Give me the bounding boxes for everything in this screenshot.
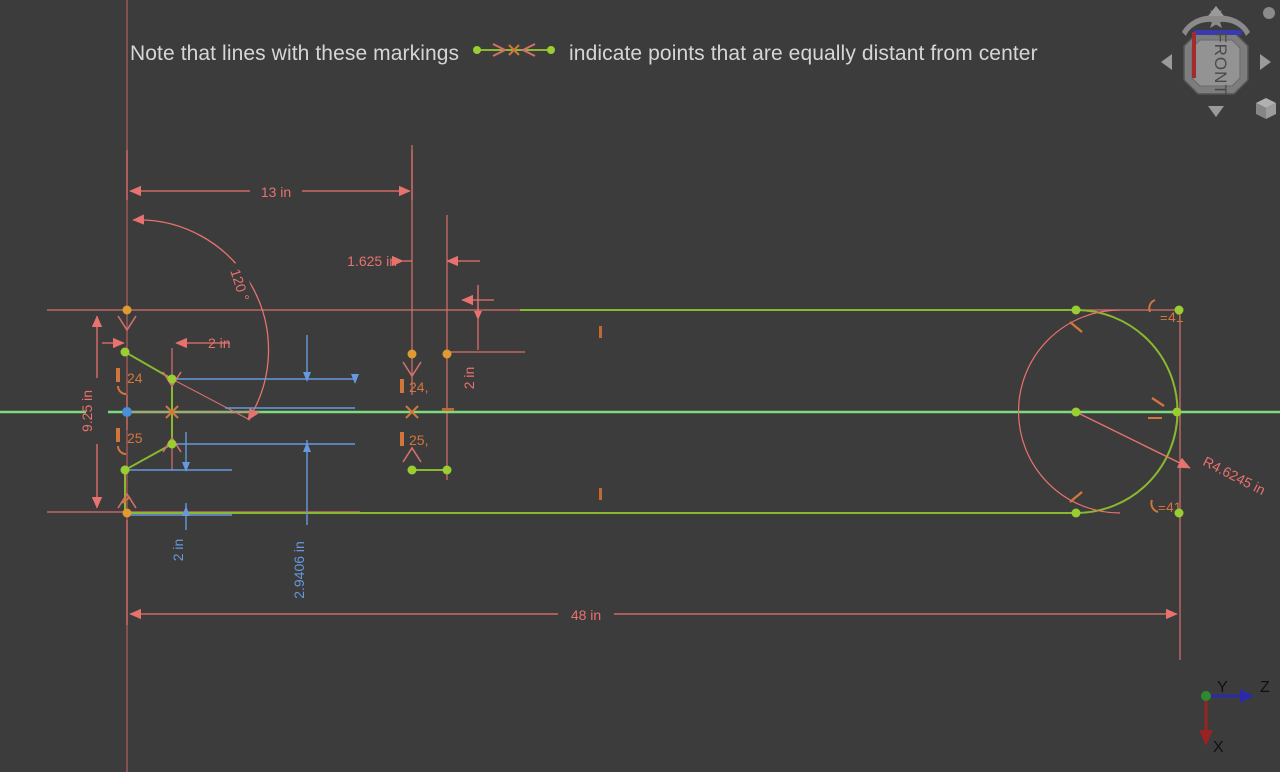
point-arc-right	[1173, 408, 1182, 417]
dimension-925in-label-group: 9.25 in	[79, 390, 95, 432]
constraint-24-left-label: 24	[127, 370, 143, 386]
dimension-2in-mid-label: 2 in	[461, 367, 477, 390]
dimension-r46245in-label-group: R4.6245 in	[1200, 453, 1268, 498]
dimension-29406in-label: 2.9406 in	[291, 541, 307, 599]
dimension-2in-low-label-group: 2 in	[170, 539, 186, 562]
constraint-41-top-equals: =	[1160, 310, 1168, 325]
point-green-1	[121, 348, 130, 357]
point-arc-center	[1072, 408, 1081, 417]
viewcube-edge-x	[1192, 32, 1196, 78]
dimension-120deg[interactable]	[127, 220, 269, 420]
blue-reference-dimensions[interactable]	[128, 335, 355, 530]
point-badge-41-top	[1175, 306, 1184, 315]
point-green-3	[168, 440, 177, 449]
constraint-25-left-label: 25	[127, 430, 143, 446]
dimension-13in-label: 13 in	[261, 184, 291, 200]
dimension-2in-top[interactable]: 2 in	[102, 335, 231, 351]
dimension-48in-label: 48 in	[571, 607, 601, 623]
constraint-badge-24-mid[interactable]: 24,	[400, 379, 428, 395]
dimension-29406in-label-group: 2.9406 in	[291, 541, 307, 599]
symmetry-marking-sample-icon	[471, 40, 557, 64]
dimension-r46245in-label: R4.6245 in	[1200, 453, 1268, 498]
axis-z-arrow	[1240, 689, 1254, 703]
axis-label-y: Y	[1217, 679, 1228, 696]
viewcube-arrow-right[interactable]	[1260, 54, 1271, 70]
dimension-2in-mid[interactable]	[447, 300, 525, 352]
constraint-badge-24-left[interactable]: 24	[116, 368, 143, 394]
cad-viewport[interactable]: 13 in 120 ° 1.625 in 2 in	[0, 0, 1280, 772]
viewcube-arrow-down[interactable]	[1208, 106, 1224, 117]
constraint-41-bot-equals: =	[1158, 500, 1166, 515]
viewcube-arrow-up[interactable]	[1208, 6, 1224, 16]
axis-triad-widget[interactable]: Y Z X	[1186, 676, 1280, 762]
dimension-48in[interactable]: 48 in	[127, 520, 1177, 625]
point-green-2	[168, 375, 177, 384]
point-arc-bottom	[1072, 509, 1081, 518]
point-blue-origin	[122, 407, 132, 417]
dimension-1625in[interactable]: 1.625 in	[347, 253, 494, 300]
viewcube-arrow-left[interactable]	[1161, 54, 1172, 70]
constraint-25-mid-label: 25,	[409, 432, 428, 448]
point-arc-top	[1072, 306, 1081, 315]
dimension-1625in-label: 1.625 in	[347, 253, 397, 269]
point-green-mid-b	[443, 350, 452, 359]
point-orange-2	[123, 509, 132, 518]
dimension-13in[interactable]: 13 in	[127, 150, 412, 201]
axis-label-x: X	[1213, 739, 1224, 756]
point-badge-41-bot	[1175, 509, 1184, 518]
point-green-4	[121, 466, 130, 475]
point-green-mid-d	[443, 466, 452, 475]
axis-y-origin	[1201, 691, 1211, 701]
point-green-mid-c	[408, 466, 417, 475]
point-green-mid-a	[408, 350, 417, 359]
axis-label-z: Z	[1260, 679, 1270, 696]
dimension-2in-low-label: 2 in	[170, 539, 186, 562]
dimension-2in-mid-label-group: 2 in	[461, 367, 477, 390]
view-cube-widget[interactable]: FRONT	[1152, 2, 1280, 128]
constraint-24-mid-label: 24,	[409, 379, 428, 395]
isometric-cube-icon[interactable]	[1256, 98, 1276, 119]
constraint-badge-25-left[interactable]: 25	[116, 428, 143, 454]
home-dot-icon[interactable]	[1263, 7, 1275, 19]
dimension-2in-top-label: 2 in	[208, 335, 231, 351]
axis-x-arrow	[1199, 730, 1213, 746]
sketch-note: Note that lines with these markings indi…	[130, 42, 1038, 66]
sketch-canvas[interactable]: 13 in 120 ° 1.625 in 2 in	[0, 0, 1280, 772]
sketch-note-suffix: indicate points that are equally distant…	[569, 42, 1038, 66]
dimension-925in-label: 9.25 in	[79, 390, 95, 432]
point-orange-1	[123, 306, 132, 315]
constraint-badge-25-mid[interactable]: 25,	[400, 432, 428, 448]
viewcube-face-label: FRONT	[1211, 32, 1230, 96]
sketch-note-prefix: Note that lines with these markings	[130, 42, 459, 66]
